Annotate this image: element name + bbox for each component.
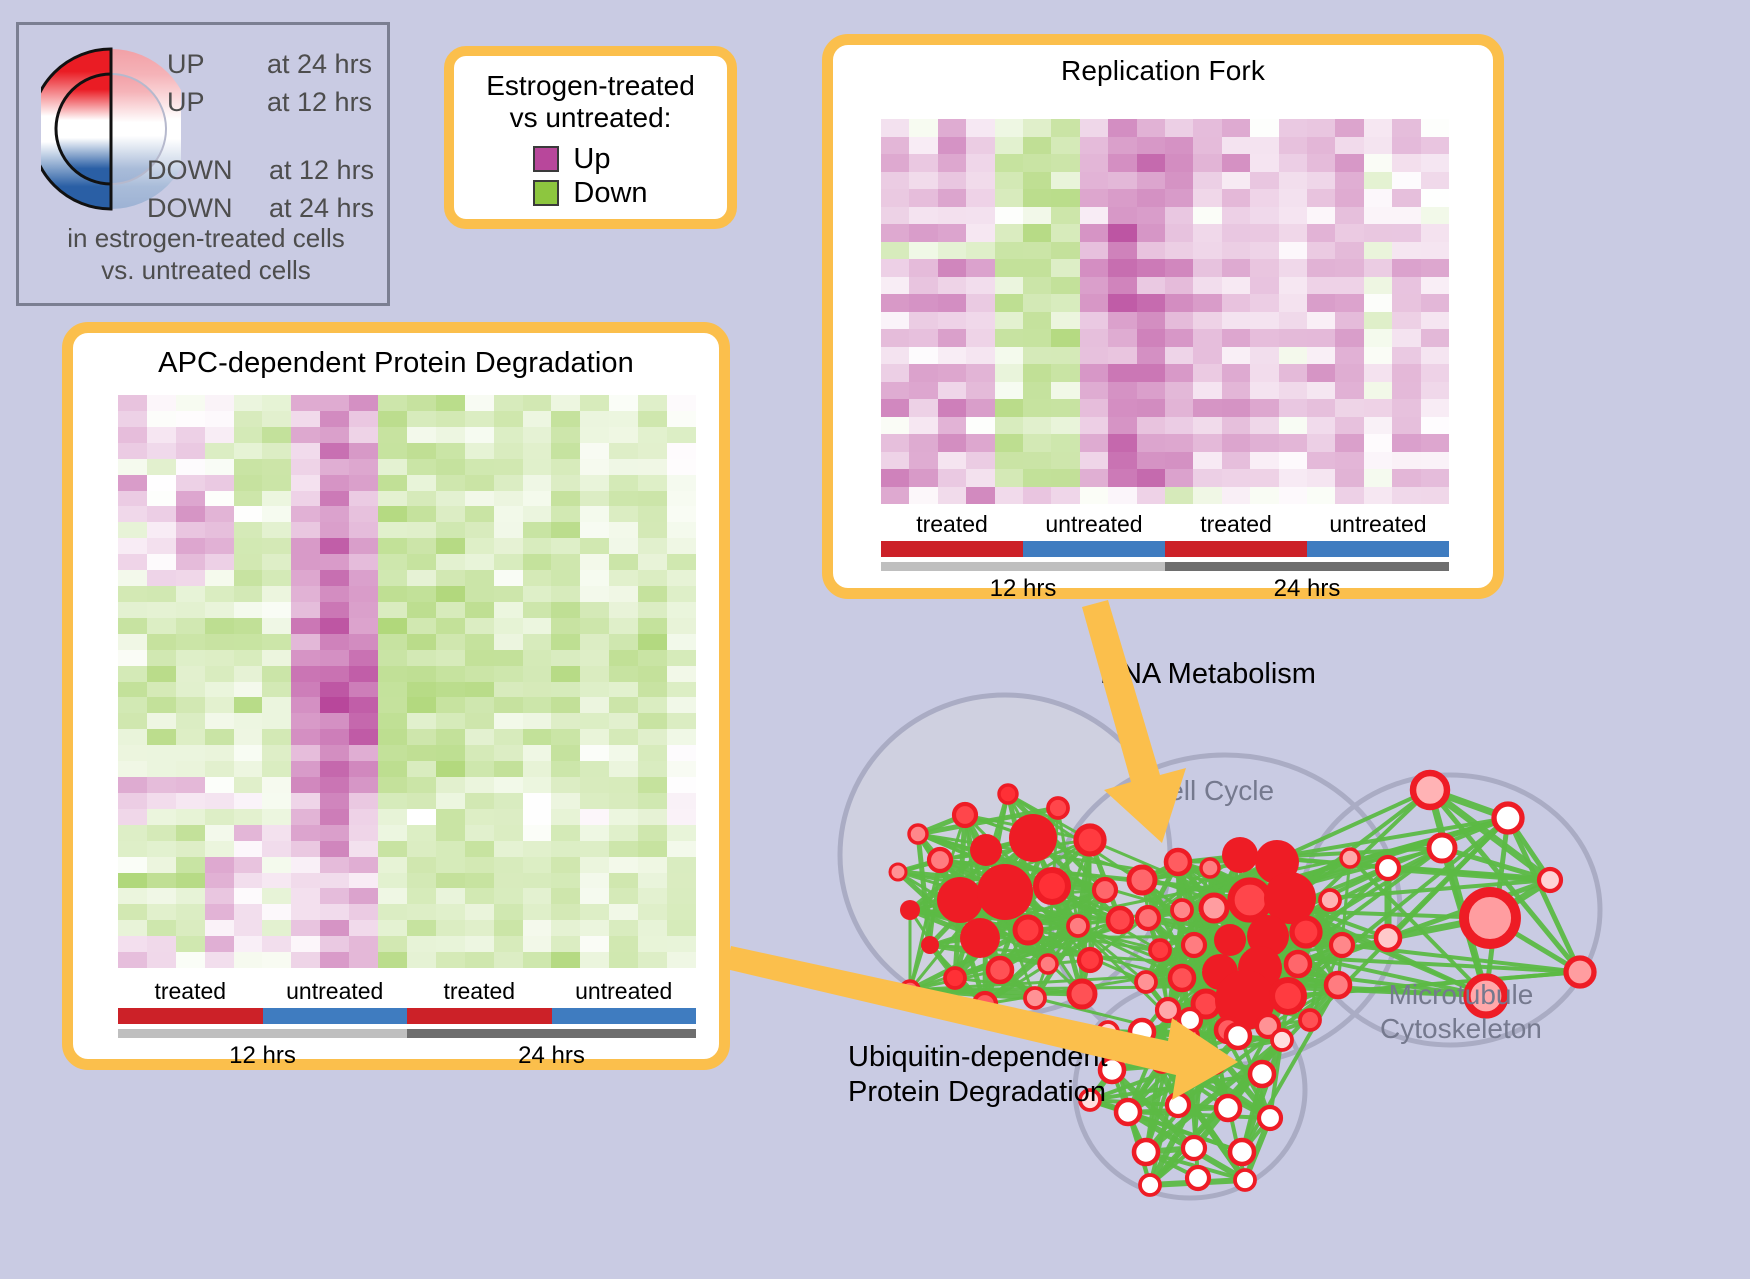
figure-canvas: UP at 24 hrs UP at 12 hrs DOWN at 12 hrs… (0, 0, 1750, 1279)
arrow-replication-fork (1082, 600, 1186, 843)
arrow-apc (726, 946, 1238, 1100)
callout-arrows (0, 0, 1750, 1279)
